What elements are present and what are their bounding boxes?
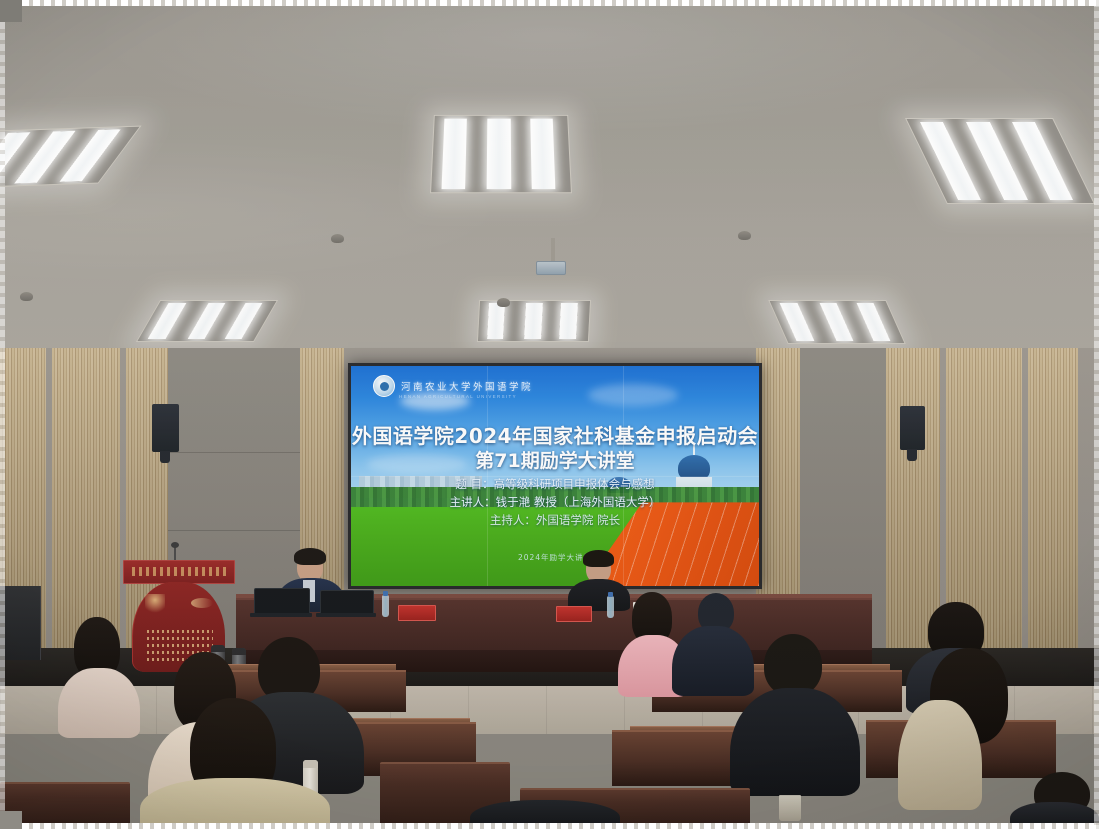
wall-speaker-icon	[152, 404, 179, 452]
smoke-detector-icon	[20, 292, 33, 301]
wall-slat-panel	[1028, 348, 1078, 648]
slide-topic: 题 目：高等级科研项目申报体会与感想	[351, 476, 759, 492]
wall-slat-panel	[52, 348, 120, 648]
ceiling-light-panel	[477, 300, 591, 342]
person-hair	[294, 548, 326, 565]
slide-speaker: 主讲人：钱于滟 教授（上海外国语大学）	[351, 494, 759, 510]
wall-seam	[168, 452, 300, 453]
image-corner-bottomleft	[0, 811, 22, 829]
wall-slat-panel	[886, 348, 940, 648]
nameplate	[556, 606, 592, 622]
smoke-detector-icon	[331, 234, 344, 243]
institution-name-en: HENAN AGRICULTURAL UNIVERSITY	[399, 394, 517, 399]
image-border-right	[1094, 0, 1099, 829]
projector-mount	[551, 238, 555, 262]
water-bottle	[607, 596, 614, 618]
slide-host: 主持人：外国语学院 院长	[351, 512, 759, 528]
lectern-top	[123, 560, 235, 584]
image-border-left	[0, 0, 5, 829]
university-logo: 河南农业大学外国语学院 HENAN AGRICULTURAL UNIVERSIT…	[373, 375, 533, 397]
slide-text: 河南农业大学外国语学院 HENAN AGRICULTURAL UNIVERSIT…	[351, 366, 759, 586]
projector-icon	[536, 261, 566, 275]
university-emblem-icon	[373, 375, 395, 397]
ceiling-light-panel	[768, 300, 906, 344]
smoke-detector-icon	[497, 298, 510, 307]
image-border-top	[0, 0, 1099, 6]
conference-hall-photo: 河南农业大学外国语学院 HENAN AGRICULTURAL UNIVERSIT…	[0, 0, 1099, 829]
smoke-detector-icon	[738, 231, 751, 240]
slide-headline-line1: 外国语学院2024年国家社科基金申报启动会	[351, 420, 759, 449]
laptop-base	[250, 613, 312, 617]
slide-watermark: 2024年励学大讲堂	[351, 552, 759, 563]
slide-headline-line2: 第71期励学大讲堂	[351, 446, 759, 473]
laptop-base	[316, 613, 376, 617]
wall-speaker-icon	[900, 406, 925, 450]
person-hair	[583, 550, 614, 567]
ceiling-light-panel	[430, 115, 572, 193]
laptop-screen	[254, 588, 310, 616]
wall-seam	[168, 530, 300, 531]
nameplate	[398, 605, 436, 621]
institution-name-cn: 河南农业大学外国语学院	[401, 379, 533, 393]
lectern-emblem-icon	[145, 594, 165, 618]
water-bottle	[382, 595, 389, 617]
image-corner-topleft	[0, 0, 22, 22]
lectern-leaf-motif	[191, 598, 213, 608]
image-border-bottom	[0, 823, 1099, 829]
equipment-cabinet	[0, 586, 41, 660]
ceiling-light-panel	[136, 300, 278, 342]
led-video-wall: 河南农业大学外国语学院 HENAN AGRICULTURAL UNIVERSIT…	[348, 363, 762, 589]
glass-cup	[779, 795, 801, 821]
